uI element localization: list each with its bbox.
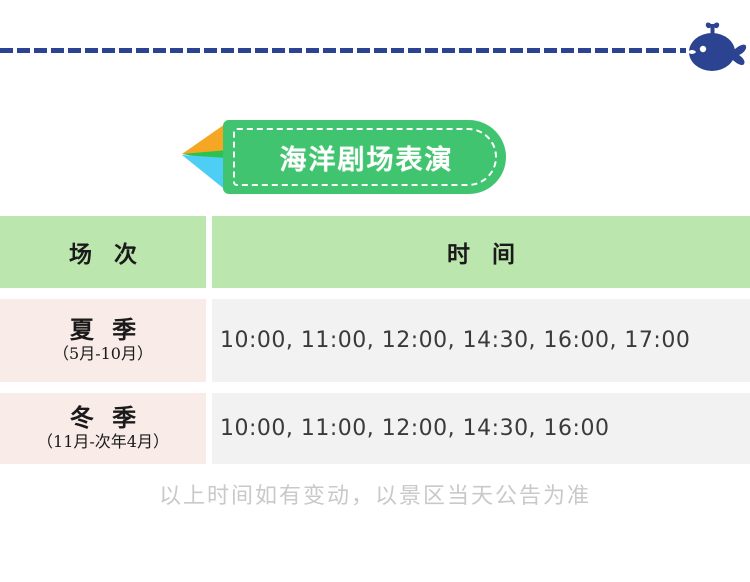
season-name-summer: 夏 季 — [65, 317, 141, 343]
time-list-summer: 10:00, 11:00, 12:00, 14:30, 16:00, 17:00 — [220, 328, 690, 353]
top-decoration-bar — [0, 0, 750, 100]
table-header-row: 场 次 时 间 — [0, 216, 750, 288]
section-title-badge: 海洋剧场表演 — [182, 120, 522, 194]
time-cell-winter: 10:00, 11:00, 12:00, 14:30, 16:00 — [212, 393, 750, 464]
time-cell-summer: 10:00, 11:00, 12:00, 14:30, 16:00, 17:00 — [212, 299, 750, 382]
header-label-session: 场 次 — [62, 235, 144, 269]
season-range-winter: （11月-次年4月） — [37, 432, 169, 452]
season-cell-summer: 夏 季 （5月-10月） — [0, 299, 206, 382]
badge-arrow-icon — [182, 120, 228, 194]
season-name-winter: 冬 季 — [65, 405, 141, 431]
arrow-bottom-triangle — [182, 155, 228, 192]
disclaimer-note: 以上时间如有变动，以景区当天公告为准 — [0, 478, 750, 510]
header-cell-session: 场 次 — [0, 216, 206, 288]
header-label-time: 时 间 — [440, 235, 522, 269]
badge-body: 海洋剧场表演 — [223, 120, 506, 194]
show-schedule-table: 场 次 时 间 夏 季 （5月-10月） 10:00, 11:00, 12:00… — [0, 216, 750, 475]
season-range-summer: （5月-10月） — [53, 344, 153, 364]
badge-title-text: 海洋剧场表演 — [223, 120, 506, 194]
table-row: 夏 季 （5月-10月） 10:00, 11:00, 12:00, 14:30,… — [0, 299, 750, 382]
table-row: 冬 季 （11月-次年4月） 10:00, 11:00, 12:00, 14:3… — [0, 393, 750, 464]
header-cell-time: 时 间 — [212, 216, 750, 288]
dashed-divider-line — [0, 48, 686, 53]
whale-icon — [681, 21, 747, 79]
time-list-winter: 10:00, 11:00, 12:00, 14:30, 16:00 — [220, 416, 609, 441]
season-cell-winter: 冬 季 （11月-次年4月） — [0, 393, 206, 464]
